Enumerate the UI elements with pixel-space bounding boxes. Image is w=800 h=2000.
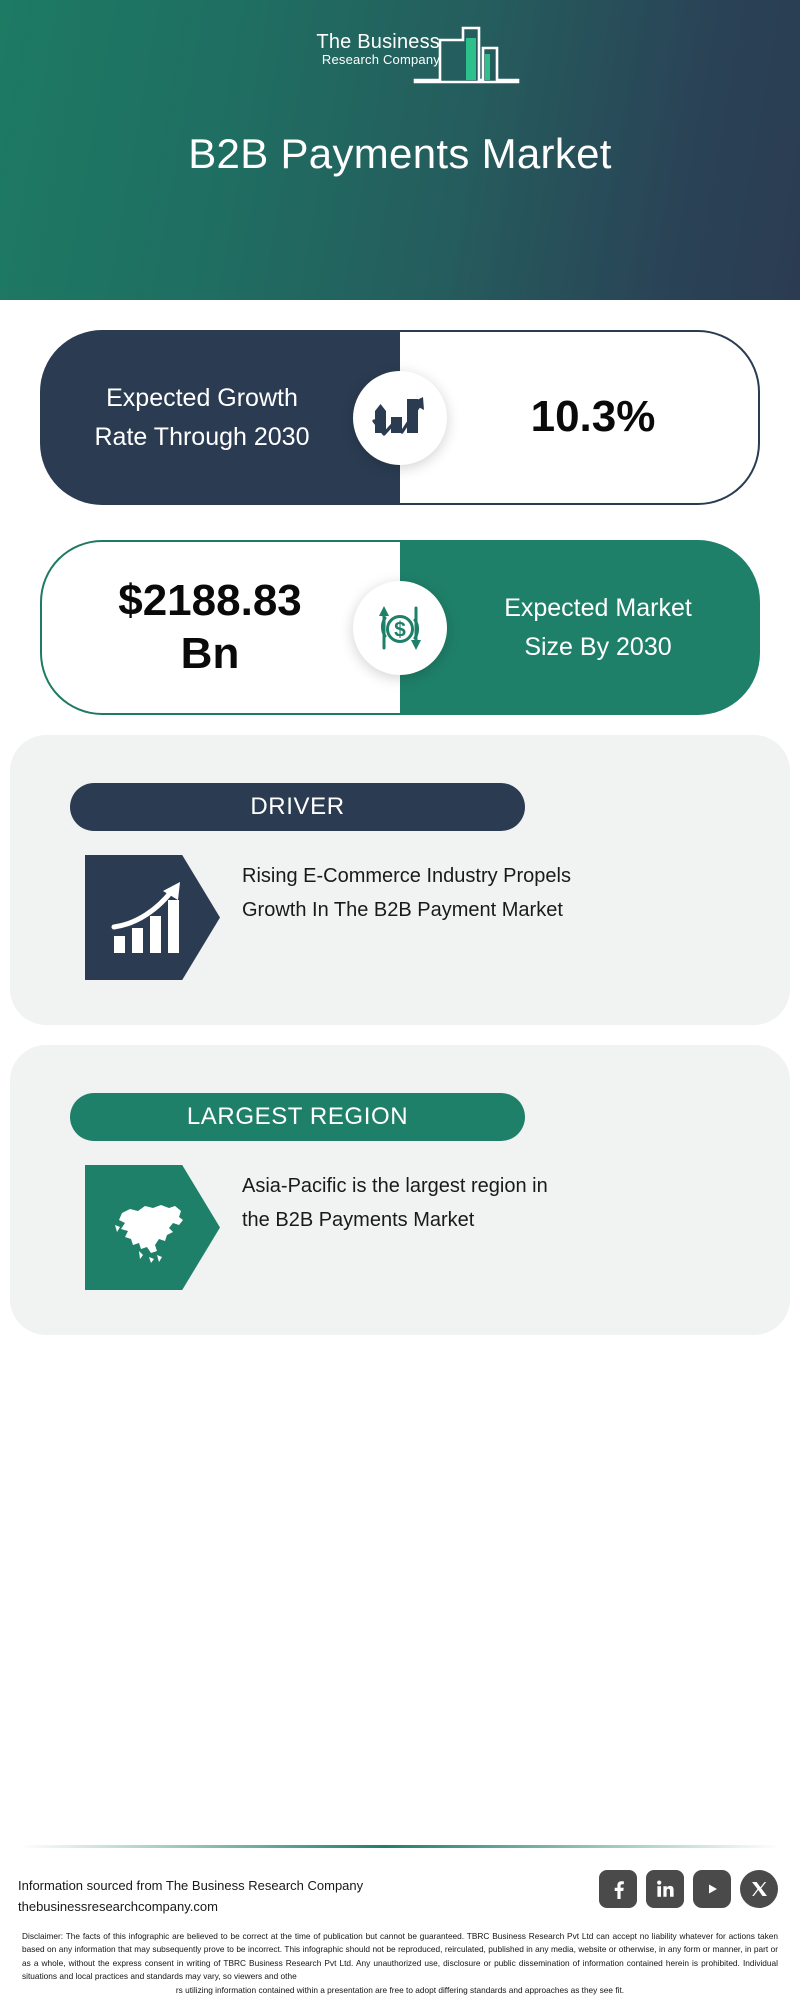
stat-value-text: 10.3% (485, 391, 674, 444)
panel-heading-text: DRIVER (250, 793, 344, 821)
disclaimer-last-line: rs utilizing information contained withi… (22, 1984, 778, 1997)
stat-label-text: Expected Market Size By 2030 (430, 589, 730, 667)
panel-heading-text: LARGEST REGION (187, 1103, 408, 1131)
facebook-icon[interactable] (599, 1870, 637, 1908)
rising-bar-chart-icon (110, 880, 196, 956)
linkedin-icon[interactable] (646, 1870, 684, 1908)
social-links (599, 1870, 778, 1908)
youtube-icon[interactable] (693, 1870, 731, 1908)
panel-heading-pill: LARGEST REGION (70, 1093, 525, 1141)
growth-chart-arrow-icon (371, 391, 429, 445)
stat-badge (353, 371, 447, 465)
x-twitter-icon[interactable] (740, 1870, 778, 1908)
disclaimer-text: Disclaimer: The facts of this infographi… (22, 1930, 778, 1997)
dollar-circular-arrows-icon: $ (371, 600, 429, 656)
panel-icon-badge (85, 1165, 220, 1290)
svg-text:$: $ (394, 618, 406, 641)
panel-icon-badge (85, 855, 220, 980)
stat-value-text: $2188.83 Bn (71, 575, 371, 681)
stat-label-text: Expected Growth Rate Through 2030 (70, 379, 370, 457)
infographic-page: The Business Research Company B2B Paymen… (0, 0, 800, 2000)
stat-label-panel: Expected Growth Rate Through 2030 (40, 330, 400, 505)
stat-value-panel: $2188.83 Bn (40, 540, 400, 715)
panel-heading-pill: DRIVER (70, 783, 525, 831)
bar-chart-logo-icon (413, 24, 520, 86)
footer-divider (20, 1845, 780, 1848)
stat-card-growth-rate: Expected Growth Rate Through 2030 10.3% (40, 330, 760, 505)
footer-source-link[interactable]: thebusinessresearchcompany.com (18, 1896, 448, 1917)
panel-body-text: Rising E-Commerce Industry Propels Growt… (242, 859, 572, 928)
panel-driver: DRIVER Rising E-Commerce Industry Propel… (10, 735, 790, 1025)
panel-body-text: Asia-Pacific is the largest region in th… (242, 1169, 572, 1238)
footer-source-line-1: Information sourced from The Business Re… (18, 1875, 448, 1896)
asia-map-icon (109, 1187, 197, 1269)
panel-largest-region: LARGEST REGION Asia-Pacific is the large… (10, 1045, 790, 1335)
stat-badge: $ (353, 581, 447, 675)
page-title: B2B Payments Market (0, 130, 800, 178)
header-banner: The Business Research Company B2B Paymen… (0, 0, 800, 300)
stat-value-panel: 10.3% (400, 330, 760, 505)
footer-source: Information sourced from The Business Re… (18, 1875, 448, 1917)
stat-label-panel: Expected Market Size By 2030 (400, 540, 760, 715)
stat-card-market-size: $2188.83 Bn Expected Market Size By 2030… (40, 540, 760, 715)
disclaimer-body: Disclaimer: The facts of this infographi… (22, 1931, 778, 1981)
brand-logo: The Business Research Company (0, 24, 800, 86)
